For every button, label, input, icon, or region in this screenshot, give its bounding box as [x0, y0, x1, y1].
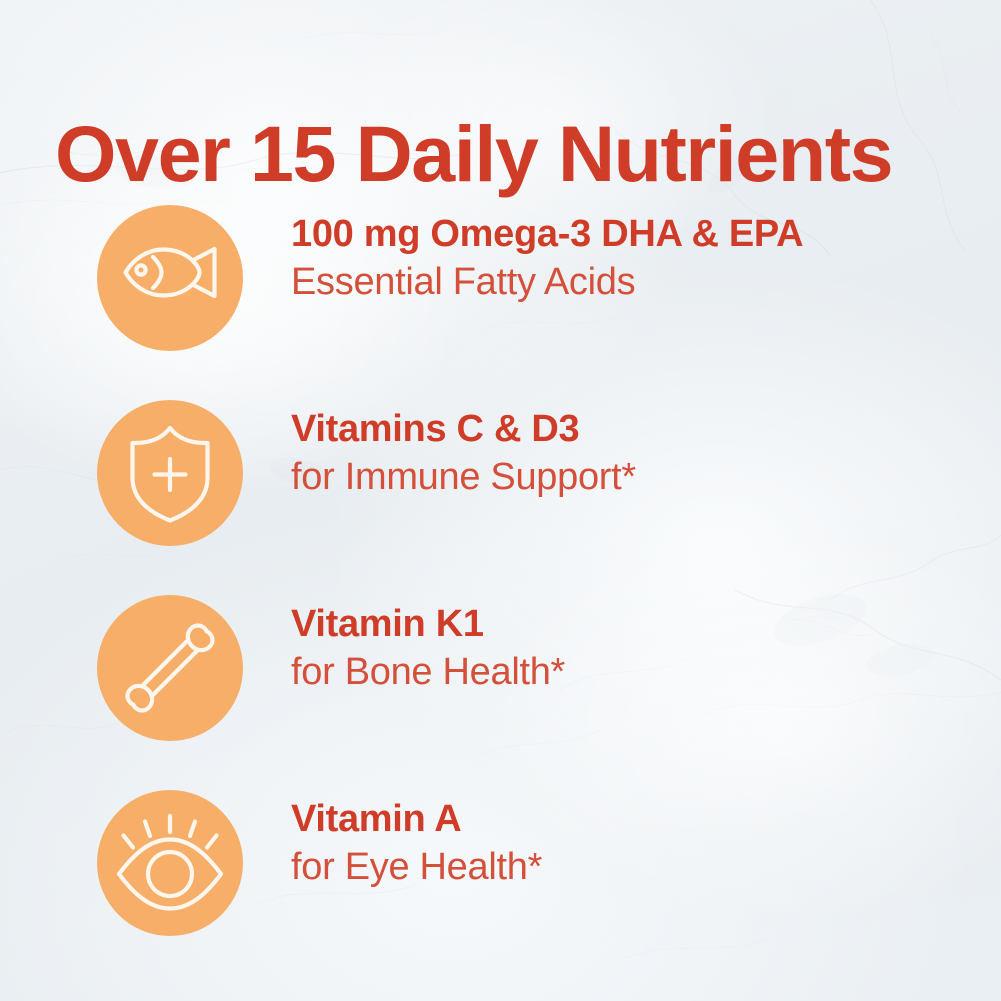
benefit-primary-label: Vitamin A — [291, 796, 971, 844]
benefit-icon-badge — [97, 595, 243, 741]
benefit-text: 100 mg Omega-3 DHA & EPA Essential Fatty… — [291, 211, 971, 306]
benefit-secondary-label: for Bone Health* — [291, 649, 971, 697]
benefit-secondary-label: for Eye Health* — [291, 844, 971, 892]
page-title: Over 15 Daily Nutrients — [55, 113, 955, 196]
benefit-icon-badge — [97, 790, 243, 936]
benefit-secondary-label: Essential Fatty Acids — [291, 259, 971, 307]
benefit-icon-badge — [97, 400, 243, 546]
bone-icon — [117, 615, 223, 721]
benefit-primary-label: Vitamin K1 — [291, 601, 971, 649]
nutrient-infographic: Over 15 Daily Nutrients 100 mg Omega-3 D… — [0, 0, 1001, 1001]
list-item: Vitamins C & D3 for Immune Support* — [0, 400, 1001, 595]
list-item: Vitamin A for Eye Health* — [0, 790, 1001, 985]
benefit-primary-label: Vitamins C & D3 — [291, 406, 971, 454]
list-item: 100 mg Omega-3 DHA & EPA Essential Fatty… — [0, 205, 1001, 400]
fish-icon — [114, 222, 226, 334]
benefit-text: Vitamins C & D3 for Immune Support* — [291, 406, 971, 501]
benefits-list: 100 mg Omega-3 DHA & EPA Essential Fatty… — [0, 205, 1001, 985]
shield-plus-icon — [118, 421, 222, 525]
benefit-primary-label: 100 mg Omega-3 DHA & EPA — [291, 211, 971, 259]
eye-icon — [114, 807, 226, 919]
benefit-icon-badge — [97, 205, 243, 351]
benefit-secondary-label: for Immune Support* — [291, 454, 971, 502]
benefit-text: Vitamin A for Eye Health* — [291, 796, 971, 891]
list-item: Vitamin K1 for Bone Health* — [0, 595, 1001, 790]
benefit-text: Vitamin K1 for Bone Health* — [291, 601, 971, 696]
